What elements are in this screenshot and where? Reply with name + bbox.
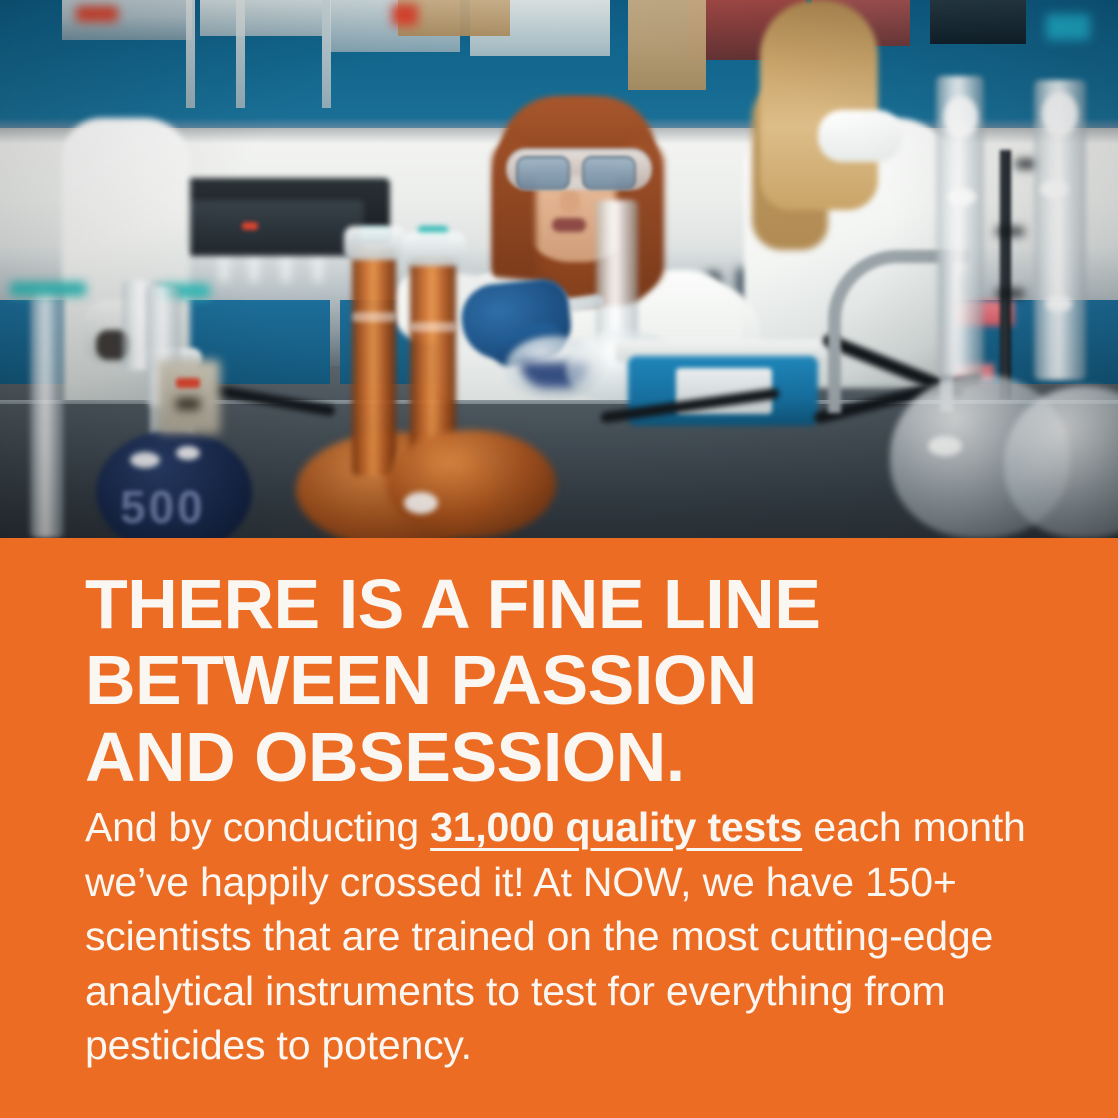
glass-highlight (1046, 296, 1072, 312)
cabinet-divider (186, 0, 195, 108)
glass-highlight (1040, 180, 1068, 198)
rod-clamp (996, 228, 1024, 235)
graduation-mark (410, 322, 456, 332)
flask-volume-label: 500 (120, 480, 240, 534)
orange-content-panel: THERE IS A FINE LINE BETWEEN PASSION AND… (0, 538, 1118, 1118)
glass-highlight (176, 446, 200, 460)
rod-clamp (996, 290, 1024, 297)
amber-flask-bulb (386, 430, 556, 538)
cabinet-carton (628, 0, 706, 90)
outlet-socket (176, 398, 200, 410)
glass-highlight (404, 492, 438, 514)
glass-highlight (948, 188, 976, 206)
red-label (76, 6, 118, 22)
glass-highlight (944, 96, 978, 138)
body-copy-part1: And by conducting (85, 804, 430, 850)
outlet-indicator (176, 378, 200, 388)
lab-photo: 500 (0, 0, 1118, 538)
burette (30, 288, 64, 538)
advertisement-card: 500 (0, 0, 1118, 1118)
scientist-center-mouth (552, 218, 586, 232)
glass-highlight (130, 452, 160, 468)
cabinet-divider (322, 0, 331, 108)
goggles-lens (582, 156, 636, 190)
quality-tests-emphasis: 31,000 quality tests (430, 804, 802, 850)
amber-flask-neck (352, 246, 396, 476)
outlet-plate (158, 360, 220, 434)
cabinet-glass-panel (200, 0, 322, 36)
teal-label (1046, 14, 1090, 40)
glass-highlight (1042, 92, 1078, 136)
cabinet-shelf-items (930, 0, 1026, 44)
body-copy: And by conducting 31,000 quality tests e… (85, 800, 1035, 1073)
cabinet-divider (236, 0, 245, 108)
scientist-right-collar (818, 110, 902, 162)
scientist-right-hair (760, 0, 878, 210)
goggles-lens (516, 156, 570, 190)
teal-stopcock (10, 282, 86, 296)
support-rod (1000, 150, 1011, 400)
graduation-mark (352, 312, 396, 322)
page-title: THERE IS A FINE LINE BETWEEN PASSION AND… (85, 566, 1045, 795)
flask-stopper (402, 232, 466, 266)
scientist-center-nose (560, 190, 580, 214)
glass-highlight (928, 436, 962, 456)
black-instrument-panel (184, 200, 364, 256)
flask-stopper (344, 226, 406, 260)
red-label (392, 4, 418, 26)
lab-scene: 500 (0, 0, 1118, 538)
indicator-light (242, 222, 258, 230)
rod-clamp (1016, 160, 1036, 168)
